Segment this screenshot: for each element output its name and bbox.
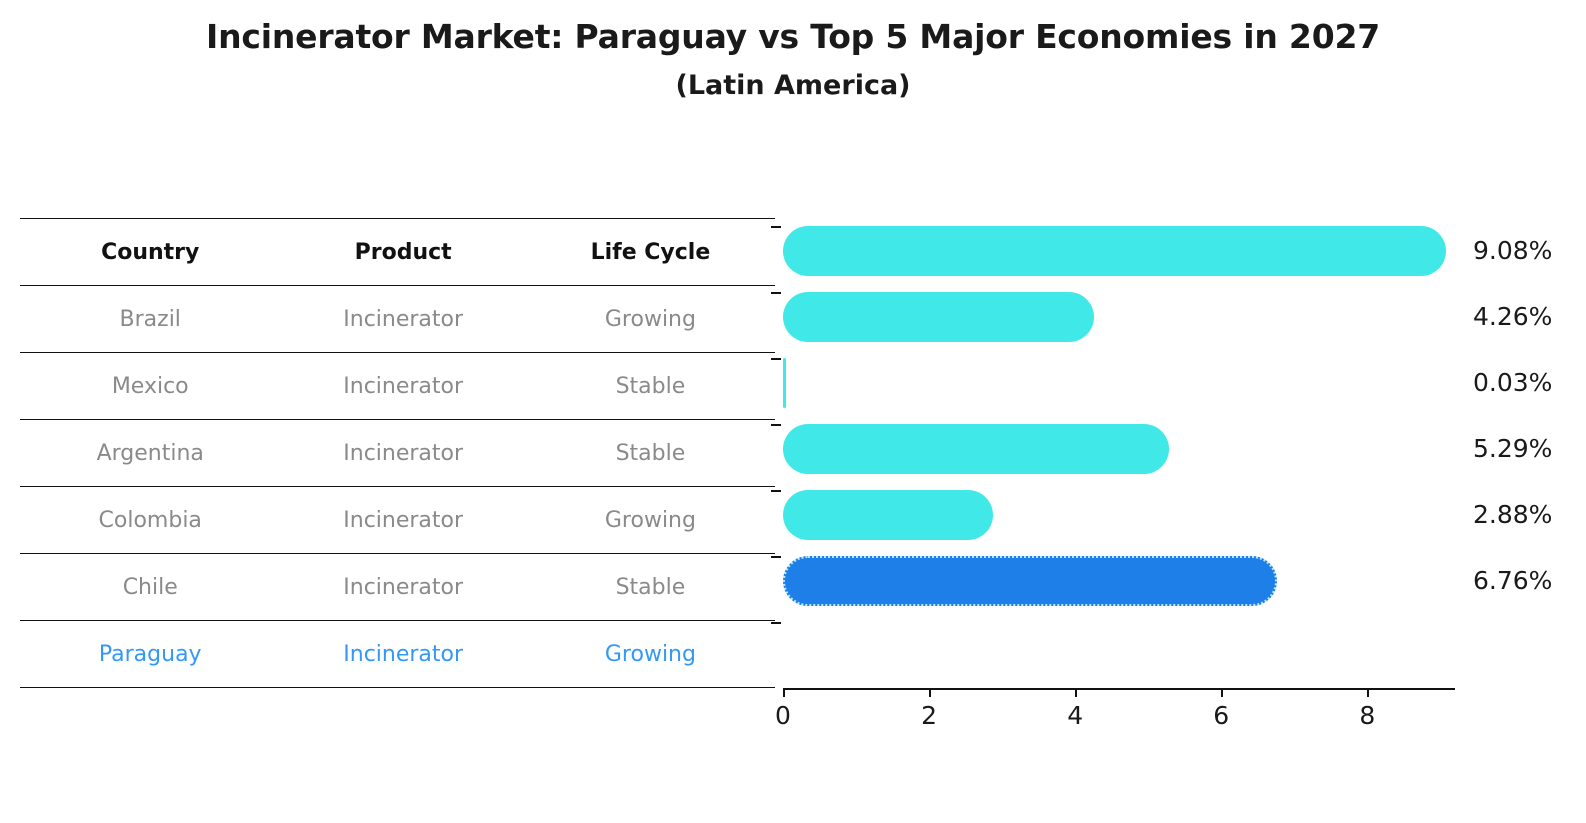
cell-country: Chile (20, 554, 280, 621)
x-axis-tick-label: 0 (775, 701, 791, 730)
cell-country: Argentina (20, 420, 280, 487)
cell-life-cycle: Stable (526, 353, 775, 420)
table-row: Chile Incinerator Stable (20, 554, 775, 621)
cell-life-cycle: Stable (526, 420, 775, 487)
cell-life-cycle: Stable (526, 554, 775, 621)
cell-product: Incinerator (280, 621, 525, 688)
country-table: Country Product Life Cycle Brazil Incine… (20, 218, 775, 688)
cell-life-cycle: Growing (526, 487, 775, 554)
column-header-product: Product (280, 219, 525, 286)
y-axis-tick (771, 226, 781, 228)
title-block: Incinerator Market: Paraguay vs Top 5 Ma… (0, 0, 1586, 101)
bar-value-label: 0.03% (1473, 358, 1552, 408)
column-header-life-cycle: Life Cycle (526, 219, 775, 286)
cell-country: Brazil (20, 286, 280, 353)
plot-area: 9.08%4.26%0.03%5.29%2.88%6.76% (783, 218, 1455, 688)
bar-value-label: 5.29% (1473, 424, 1552, 474)
bar-value-label: 6.76% (1473, 556, 1552, 606)
bar (783, 226, 1446, 276)
cell-product: Incinerator (280, 286, 525, 353)
x-axis-line (783, 688, 1455, 690)
cell-product: Incinerator (280, 554, 525, 621)
x-axis-tick-label: 8 (1359, 701, 1375, 730)
x-axis-tick (1367, 688, 1369, 697)
cell-country: Paraguay (20, 621, 280, 688)
page-subtitle: (Latin America) (0, 56, 1586, 101)
bar-row: 4.26% (783, 284, 1455, 350)
cell-life-cycle: Growing (526, 286, 775, 353)
cell-life-cycle: Growing (526, 621, 775, 688)
cell-product: Incinerator (280, 487, 525, 554)
x-axis-tick (783, 688, 785, 697)
cell-product: Incinerator (280, 420, 525, 487)
table-row: Mexico Incinerator Stable (20, 353, 775, 420)
cell-product: Incinerator (280, 353, 525, 420)
y-axis-tick (771, 556, 781, 558)
x-axis-tick (929, 688, 931, 697)
x-axis-tick (1075, 688, 1077, 697)
country-table-panel: Country Product Life Cycle Brazil Incine… (20, 218, 775, 688)
bar (783, 292, 1094, 342)
x-axis-tick-label: 2 (921, 701, 937, 730)
x-axis-tick (1221, 688, 1223, 697)
bar-row: 9.08% (783, 218, 1455, 284)
table-row-highlighted: Paraguay Incinerator Growing (20, 621, 775, 688)
page-title: Incinerator Market: Paraguay vs Top 5 Ma… (0, 0, 1586, 56)
bar-chart-panel: 9.08%4.26%0.03%5.29%2.88%6.76% 02468 (783, 218, 1455, 698)
x-axis-tick-label: 4 (1067, 701, 1083, 730)
bar-row: 2.88% (783, 482, 1455, 548)
y-axis-tick (771, 292, 781, 294)
bar-highlighted (783, 556, 1277, 606)
y-axis-tick (771, 490, 781, 492)
cell-country: Colombia (20, 487, 280, 554)
table-row: Argentina Incinerator Stable (20, 420, 775, 487)
bar (783, 358, 786, 408)
bar-value-label: 4.26% (1473, 292, 1552, 342)
table-body: Brazil Incinerator Growing Mexico Incine… (20, 286, 775, 688)
table-header-row: Country Product Life Cycle (20, 219, 775, 286)
table-row: Colombia Incinerator Growing (20, 487, 775, 554)
bar-row: 0.03% (783, 350, 1455, 416)
x-axis: 02468 (783, 688, 1455, 748)
x-axis-tick-label: 6 (1213, 701, 1229, 730)
bar-value-label: 9.08% (1473, 226, 1552, 276)
table-header: Country Product Life Cycle (20, 219, 775, 286)
bar-row: 6.76% (783, 548, 1455, 614)
bar (783, 490, 993, 540)
bar-row: 5.29% (783, 416, 1455, 482)
bar (783, 424, 1169, 474)
y-axis-tick (771, 358, 781, 360)
bar-value-label: 2.88% (1473, 490, 1552, 540)
y-axis-tick (771, 622, 781, 624)
cell-country: Mexico (20, 353, 280, 420)
column-header-country: Country (20, 219, 280, 286)
y-axis-tick (771, 424, 781, 426)
table-row: Brazil Incinerator Growing (20, 286, 775, 353)
